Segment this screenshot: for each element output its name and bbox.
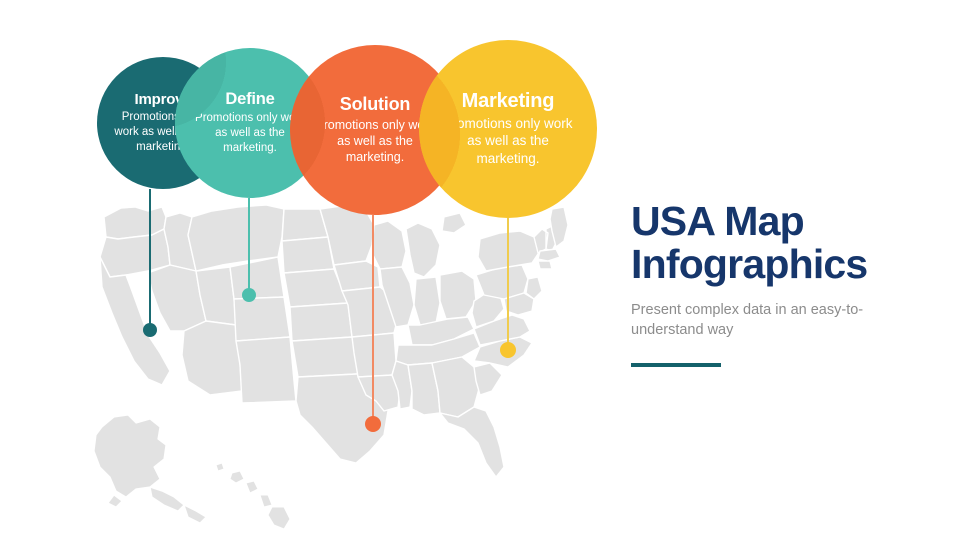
connector-line-improve	[149, 189, 151, 330]
map-marker-define[interactable]	[242, 288, 256, 302]
page-title-line-1: USA Map	[631, 200, 931, 243]
connector-line-define	[248, 198, 250, 295]
connector-line-marketing	[507, 218, 509, 350]
page-subtitle: Present complex data in an easy-to-under…	[631, 300, 876, 341]
page-title-line-2: Infographics	[631, 243, 931, 286]
map-marker-solution[interactable]	[365, 416, 381, 432]
map-marker-improve[interactable]	[143, 323, 157, 337]
bubble-marketing[interactable]: Marketing Promotions only work as well a…	[419, 40, 597, 218]
page-title: USA Map Infographics	[631, 200, 931, 287]
map-marker-marketing[interactable]	[500, 342, 516, 358]
infographic-slide: Improve Promotions only work as well as …	[0, 0, 980, 551]
title-block: USA Map Infographics Present complex dat…	[631, 200, 931, 367]
bubble-title-define: Define	[225, 91, 274, 108]
connector-line-solution	[372, 215, 374, 424]
bubble-description-marketing: Promotions only work as well as the mark…	[437, 115, 579, 167]
usa-map	[88, 195, 568, 540]
accent-rule	[631, 363, 721, 367]
bubble-title-solution: Solution	[340, 95, 410, 114]
bubble-title-marketing: Marketing	[462, 91, 555, 112]
